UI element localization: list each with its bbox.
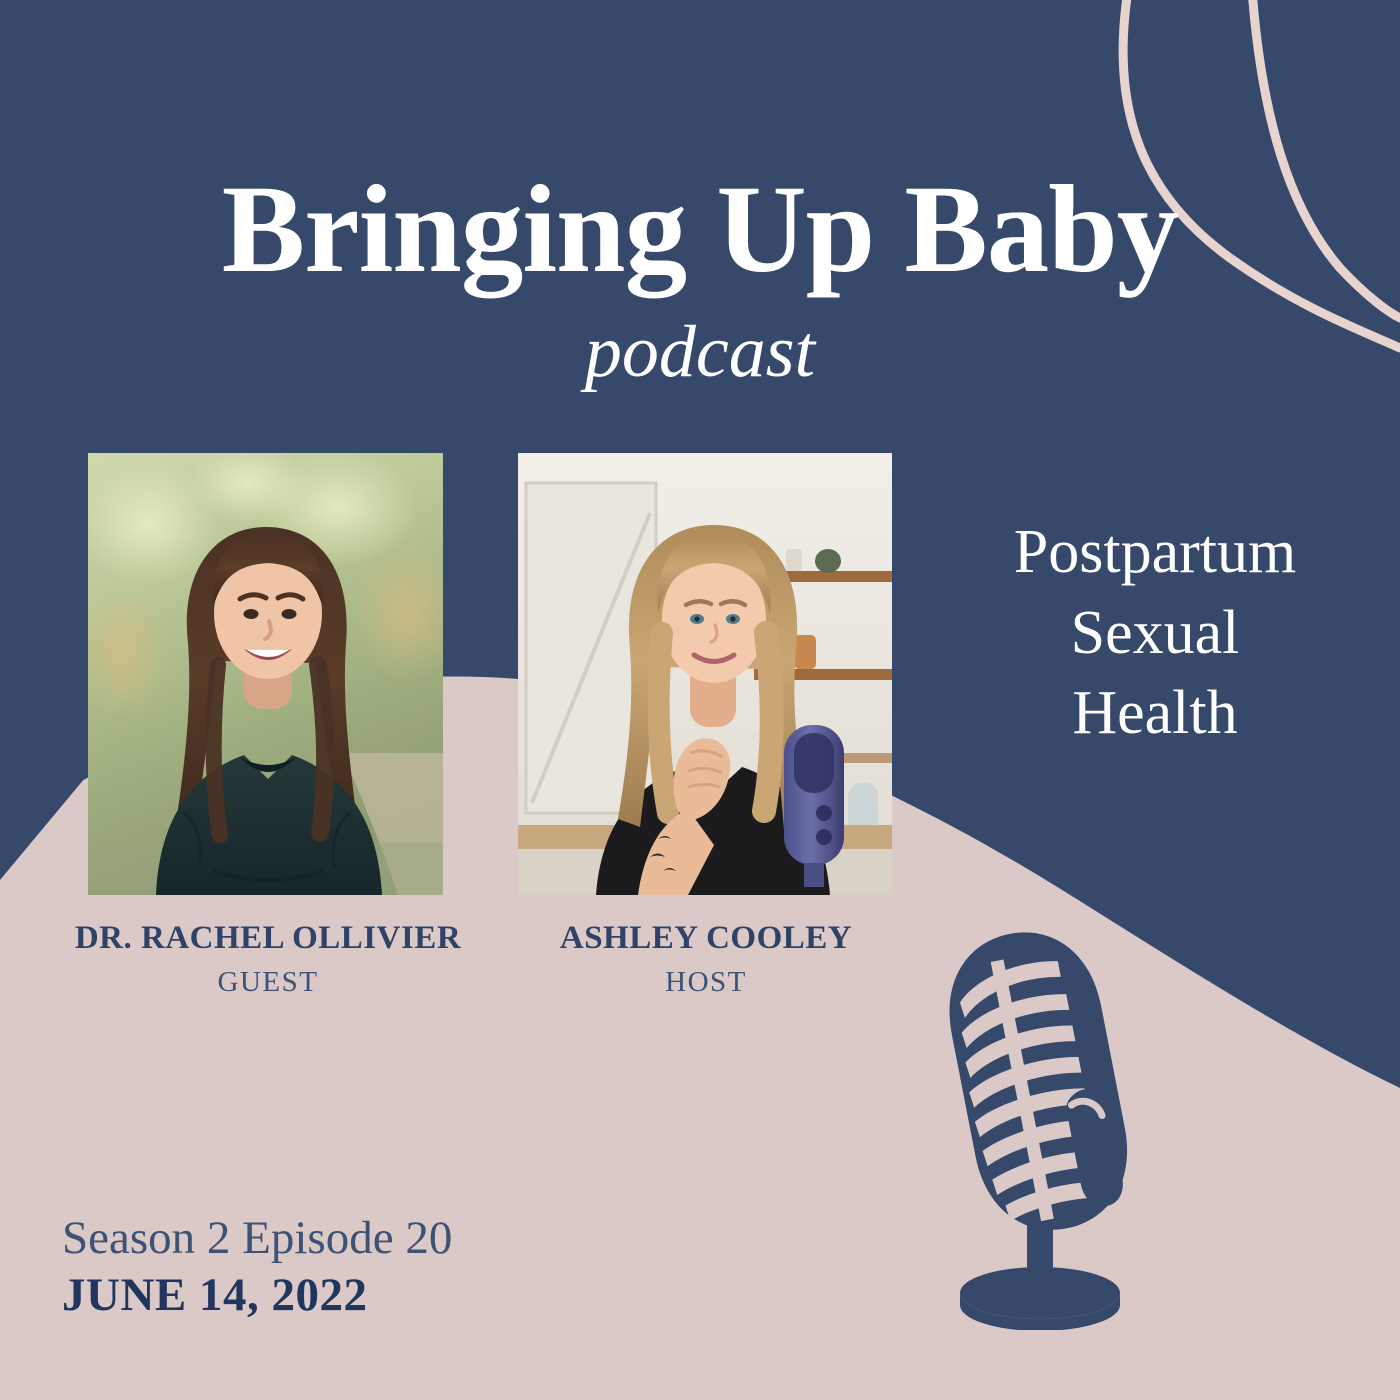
host-role: HOST: [508, 967, 904, 999]
guest-name: DR. RACHEL OLLIVIER: [48, 920, 488, 956]
host-photo-image: [518, 453, 892, 895]
episode-title-line-3: Health: [930, 673, 1380, 754]
host-credit: ASHLEY COOLEY HOST: [508, 920, 904, 999]
host-photo: [518, 453, 892, 895]
episode-title-line-1: Postpartum: [930, 512, 1380, 593]
guest-credit: DR. RACHEL OLLIVIER GUEST: [48, 920, 488, 999]
host-name: ASHLEY COOLEY: [508, 920, 904, 956]
title-block: Bringing Up Baby podcast: [0, 168, 1400, 389]
microphone-icon: [905, 915, 1175, 1330]
show-title: Bringing Up Baby: [0, 168, 1400, 293]
season-episode-label: Season 2 Episode 20: [62, 1212, 452, 1265]
episode-title-line-2: Sexual: [930, 593, 1380, 674]
guest-photo: [88, 453, 443, 895]
release-date-label: JUNE 14, 2022: [62, 1269, 452, 1322]
episode-meta: Season 2 Episode 20 JUNE 14, 2022: [62, 1212, 452, 1321]
podcast-cover-art: Bringing Up Baby podcast Postpartum Sexu…: [0, 0, 1400, 1400]
episode-title: Postpartum Sexual Health: [930, 512, 1380, 754]
guest-photo-image: [88, 453, 443, 895]
guest-role: GUEST: [48, 967, 488, 999]
show-subtitle: podcast: [0, 315, 1400, 389]
